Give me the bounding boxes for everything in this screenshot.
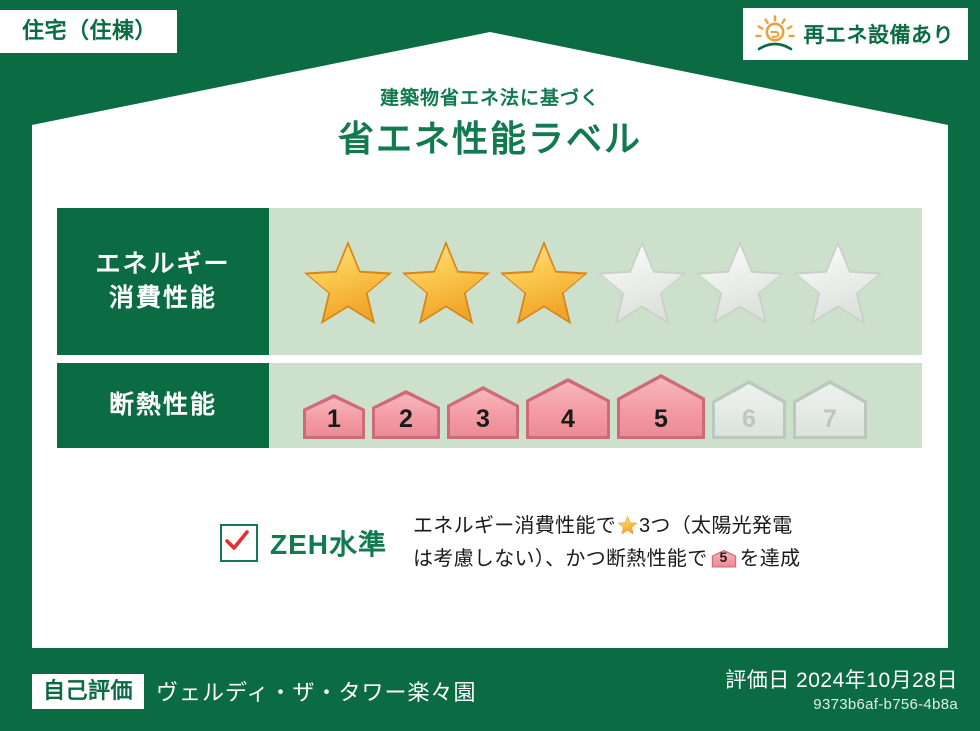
house-badge-icon: 4: [524, 375, 612, 441]
energy-performance-label-cell: エネルギー 消費性能: [57, 208, 269, 355]
renewable-badge-label: 再エネ設備あり: [804, 19, 955, 49]
insulation-performance-row: 断熱性能 1: [57, 363, 922, 448]
zeh-desc-text-d: を達成: [740, 548, 801, 570]
rating-rows: エネルギー 消費性能: [57, 208, 922, 456]
zeh-section: ZEH水準 エネルギー消費性能で3つ（太陽光発電 は考慮しない）、かつ断熱性能で…: [57, 510, 922, 576]
energy-performance-label: { "header": { "house_type_tag": "住宅（住棟）"…: [0, 0, 980, 731]
house-badge-icon-inactive: 7: [791, 377, 869, 441]
title-block: 建築物省エネ法に基づく 省エネ性能ラベル: [0, 88, 980, 160]
footer-left: 自己評価 ヴェルディ・ザ・タワー楽々園: [32, 674, 476, 709]
house-type-tag-label: 住宅（住棟）: [22, 18, 157, 43]
zeh-desc-text-c: は考慮しない）、かつ断熱性能で: [413, 548, 708, 570]
star-icon-empty: [693, 237, 787, 327]
label-title: 省エネ性能ラベル: [0, 117, 980, 160]
solar-sun-icon: [755, 15, 795, 53]
label-subtitle: 建築物省エネ法に基づく: [0, 88, 980, 111]
inline-level-number: 5: [711, 546, 737, 569]
energy-performance-row: エネルギー 消費性能: [57, 208, 922, 355]
zeh-description: エネルギー消費性能で3つ（太陽光発電 は考慮しない）、かつ断熱性能で5を達成: [413, 510, 800, 576]
energy-label-line2: 消費性能: [109, 282, 217, 316]
star-icon: [301, 237, 395, 327]
energy-performance-value-cell: [269, 208, 922, 355]
house-type-tag: 住宅（住棟）: [0, 10, 177, 53]
star-rating: [301, 237, 885, 327]
insulation-performance-value-cell: 1 2 3: [269, 363, 922, 448]
star-icon-empty: [791, 237, 885, 327]
house-badge-icon-inline: 5: [711, 548, 737, 569]
level-number: 3: [445, 405, 521, 434]
insulation-label-line1: 断熱性能: [109, 389, 217, 423]
house-badge-icon: 1: [301, 391, 367, 441]
level-number: 6: [710, 405, 788, 434]
zeh-label-group: ZEH水準: [57, 523, 413, 563]
star-icon: [497, 237, 591, 327]
level-number: 7: [791, 405, 869, 434]
house-badge-icon-inactive: 6: [710, 377, 788, 441]
level-number: 5: [615, 405, 707, 434]
level-number: 1: [301, 405, 367, 434]
zeh-desc-text-b: 3つ（太陽光発電: [639, 515, 793, 537]
renewable-energy-badge: 再エネ設備あり: [743, 8, 969, 60]
level-number: 4: [524, 405, 612, 434]
building-name: ヴェルディ・ザ・タワー楽々園: [156, 675, 476, 707]
zeh-standard-label: ZEH水準: [270, 523, 387, 563]
insulation-performance-label-cell: 断熱性能: [57, 363, 269, 448]
energy-label-line1: エネルギー: [95, 248, 230, 282]
zeh-description-line2: は考慮しない）、かつ断熱性能で5を達成: [413, 543, 800, 576]
evaluation-date: 評価日 2024年10月28日: [725, 667, 958, 694]
star-icon: [399, 237, 493, 327]
footer-right: 評価日 2024年10月28日 9373b6af-b756-4b8a: [725, 667, 958, 713]
zeh-description-line1: エネルギー消費性能で3つ（太陽光発電: [413, 510, 800, 543]
star-icon-empty: [595, 237, 689, 327]
house-badge-icon: 2: [370, 387, 442, 441]
check-icon: [220, 524, 258, 562]
zeh-desc-text-a: エネルギー消費性能で: [413, 515, 616, 537]
house-badge-icon: 5: [615, 371, 707, 441]
star-icon-inline: [617, 515, 638, 535]
evaluation-id: 9373b6af-b756-4b8a: [725, 696, 958, 713]
insulation-level-scale: 1 2 3: [301, 371, 869, 441]
house-badge-icon: 3: [445, 383, 521, 441]
self-evaluation-tag: 自己評価: [32, 674, 144, 709]
level-number: 2: [370, 405, 442, 434]
